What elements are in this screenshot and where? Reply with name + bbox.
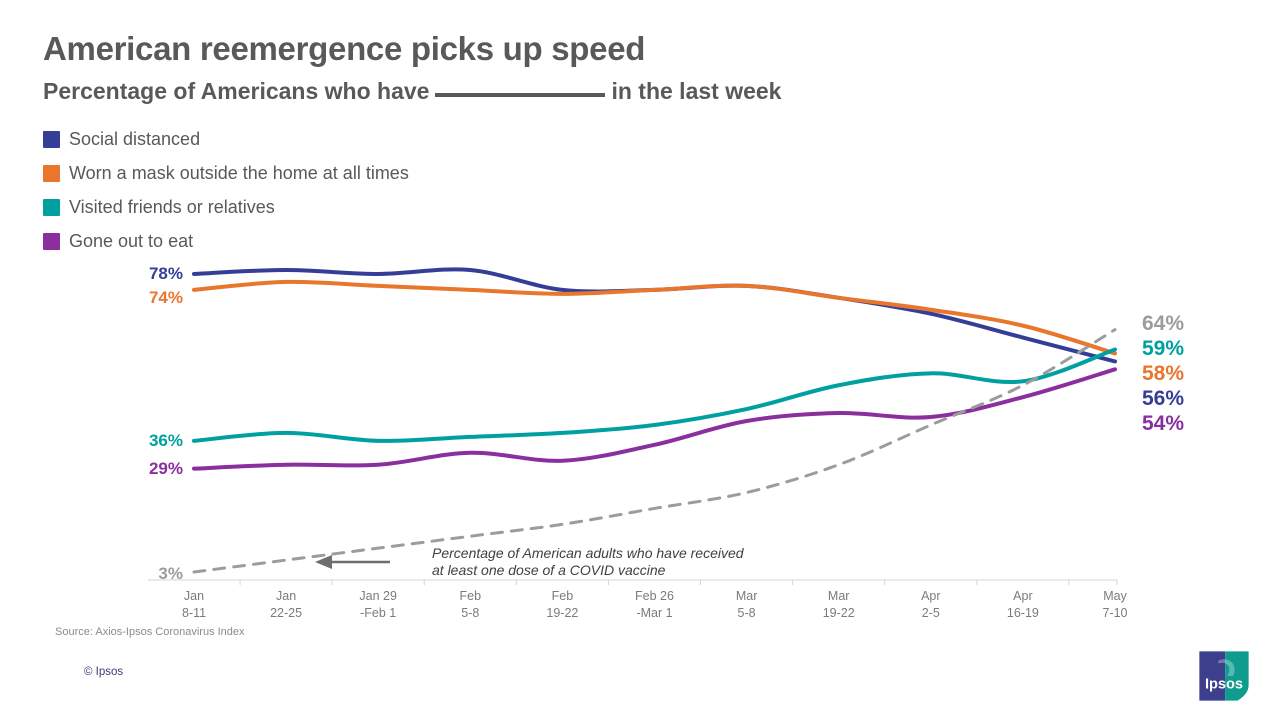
x-axis-tick-label: 2-5 [922, 606, 940, 620]
x-axis-tick-label: Jan [184, 589, 204, 603]
x-axis-tick-label: 7-10 [1102, 606, 1127, 620]
slide-root: American reemergence picks up speed Perc… [0, 0, 1280, 720]
x-axis-tick-label: May [1103, 589, 1127, 603]
x-axis-tick-label: Feb [552, 589, 574, 603]
x-axis-tick-label: 19-22 [546, 606, 578, 620]
source-note: Source: Axios-Ipsos Coronavirus Index [55, 626, 245, 638]
x-axis-tick-label: Feb 26 [635, 589, 674, 603]
x-axis-tick-label: -Feb 1 [360, 606, 396, 620]
x-axis-tick-label: Feb [460, 589, 482, 603]
x-axis-tick-label: 19-22 [823, 606, 855, 620]
series-start-label: 3% [158, 564, 183, 583]
chart-area: Jan8-11Jan22-25Jan 29-Feb 1Feb5-8Feb19-2… [0, 0, 1280, 720]
x-axis-tick-label: Jan 29 [359, 589, 397, 603]
series-end-label: 54% [1142, 412, 1184, 435]
x-axis-tick-label: 16-19 [1007, 606, 1039, 620]
series-end-label: 59% [1142, 337, 1184, 360]
series-end-label: 64% [1142, 312, 1184, 335]
series-end-label: 56% [1142, 387, 1184, 410]
annotation-line-2: at least one dose of a COVID vaccine [432, 562, 666, 578]
series-line [194, 369, 1115, 468]
series-line [194, 330, 1115, 572]
series-start-label: 78% [149, 264, 183, 283]
x-axis-tick-label: 22-25 [270, 606, 302, 620]
x-axis-tick-label: Apr [1013, 589, 1032, 603]
series-end-label: 58% [1142, 362, 1184, 385]
x-axis-tick-label: Apr [921, 589, 940, 603]
series-line [194, 349, 1115, 440]
series-start-label: 74% [149, 288, 183, 307]
series-start-label: 36% [149, 431, 183, 450]
x-axis-tick-label: Mar [828, 589, 850, 603]
ipsos-logo: Ipsos [1196, 648, 1252, 704]
x-axis-tick-label: 5-8 [461, 606, 479, 620]
copyright-note: © Ipsos [84, 666, 123, 678]
x-axis-tick-label: Jan [276, 589, 296, 603]
ipsos-logo-text: Ipsos [1205, 676, 1243, 692]
annotation-line-1: Percentage of American adults who have r… [432, 545, 745, 561]
x-axis-tick-label: 8-11 [182, 606, 206, 620]
series-line [194, 282, 1115, 354]
x-axis-tick-label: -Mar 1 [636, 606, 672, 620]
x-axis-tick-label: 5-8 [738, 606, 756, 620]
x-axis-tick-label: Mar [736, 589, 758, 603]
series-start-label: 29% [149, 459, 183, 478]
line-chart: Jan8-11Jan22-25Jan 29-Feb 1Feb5-8Feb19-2… [0, 0, 1280, 720]
